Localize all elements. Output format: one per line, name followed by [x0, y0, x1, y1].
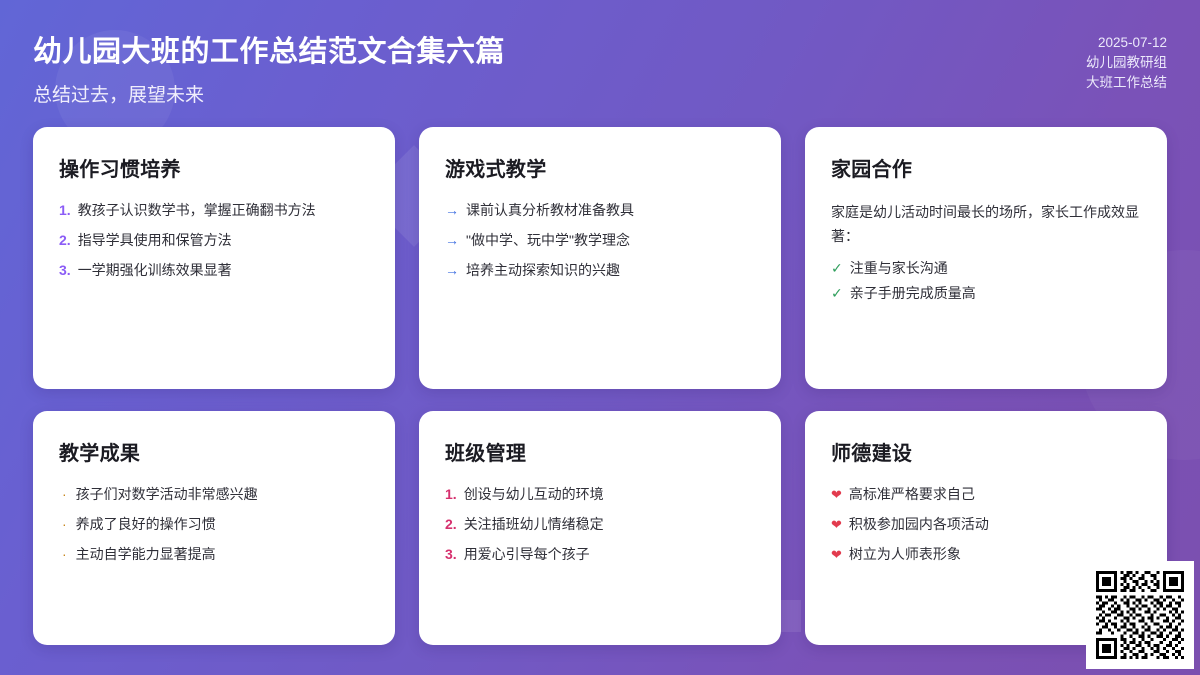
list-item: 1.教孩子认识数学书，掌握正确翻书方法	[59, 200, 369, 221]
slide-root: 幼儿园大班的工作总结范文合集六篇 总结过去，展望未来 2025-07-12 幼儿…	[0, 0, 1200, 675]
list-item: ✓注重与家长沟通	[831, 258, 1141, 279]
qr-code-icon	[1096, 571, 1184, 659]
card-list: ✓注重与家长沟通✓亲子手册完成质量高	[831, 258, 1141, 304]
card-title: 家园合作	[831, 153, 1141, 182]
card-title: 师德建设	[831, 437, 1141, 466]
card-list: ·孩子们对数学活动非常感兴趣·养成了良好的操作习惯·主动自学能力显著提高	[59, 484, 369, 565]
card-list: →课前认真分析教材准备教具→"做中学、玩中学"教学理念→培养主动探索知识的兴趣	[445, 200, 755, 281]
list-item: →课前认真分析教材准备教具	[445, 200, 755, 221]
list-item-text: 一学期强化训练效果显著	[78, 260, 369, 281]
list-item: ✓亲子手册完成质量高	[831, 283, 1141, 304]
list-item: 1.创设与幼儿互动的环境	[445, 484, 755, 505]
list-marker-icon: ❤	[831, 544, 842, 565]
header-date: 2025-07-12	[1086, 33, 1167, 53]
list-item-text: 孩子们对数学活动非常感兴趣	[76, 484, 369, 505]
list-item: →培养主动探索知识的兴趣	[445, 260, 755, 281]
list-item-text: 积极参加园内各项活动	[849, 514, 1141, 535]
card[interactable]: 教学成果·孩子们对数学活动非常感兴趣·养成了良好的操作习惯·主动自学能力显著提高	[33, 411, 395, 645]
list-item: 3.用爱心引导每个孩子	[445, 544, 755, 565]
list-marker-icon: ❤	[831, 484, 842, 505]
card-title: 操作习惯培养	[59, 153, 369, 182]
card-grid: 操作习惯培养1.教孩子认识数学书，掌握正确翻书方法2.指导学具使用和保管方法3.…	[33, 127, 1167, 645]
list-item-text: 亲子手册完成质量高	[850, 283, 1141, 304]
list-marker-icon: 1.	[445, 484, 457, 505]
qr-panel[interactable]	[1086, 561, 1194, 669]
list-item: ❤高标准严格要求自己	[831, 484, 1141, 505]
card[interactable]: 家园合作家庭是幼儿活动时间最长的场所，家长工作成效显著：✓注重与家长沟通✓亲子手…	[805, 127, 1167, 389]
card-title: 教学成果	[59, 437, 369, 466]
list-marker-icon: 2.	[445, 514, 457, 535]
card-list: 1.教孩子认识数学书，掌握正确翻书方法2.指导学具使用和保管方法3.一学期强化训…	[59, 200, 369, 281]
list-item: 2.指导学具使用和保管方法	[59, 230, 369, 251]
list-marker-icon: ·	[62, 484, 67, 505]
list-item-text: 创设与幼儿互动的环境	[464, 484, 755, 505]
card-list: ❤高标准严格要求自己❤积极参加园内各项活动❤树立为人师表形象	[831, 484, 1141, 565]
list-marker-icon: 2.	[59, 230, 71, 251]
list-item: ·主动自学能力显著提高	[59, 544, 369, 565]
list-item: ·孩子们对数学活动非常感兴趣	[59, 484, 369, 505]
list-marker-icon: ✓	[831, 258, 843, 279]
header-meta: 2025-07-12 幼儿园教研组 大班工作总结	[1086, 33, 1167, 93]
header-org: 幼儿园教研组	[1086, 53, 1167, 73]
card[interactable]: 班级管理1.创设与幼儿互动的环境2.关注插班幼儿情绪稳定3.用爱心引导每个孩子	[419, 411, 781, 645]
list-item-text: 注重与家长沟通	[850, 258, 1141, 279]
list-item-text: 主动自学能力显著提高	[76, 544, 369, 565]
page-subtitle: 总结过去，展望未来	[33, 80, 204, 107]
card-title: 班级管理	[445, 437, 755, 466]
card-title: 游戏式教学	[445, 153, 755, 182]
list-item-text: 指导学具使用和保管方法	[78, 230, 369, 251]
slide-header: 幼儿园大班的工作总结范文合集六篇 总结过去，展望未来 2025-07-12 幼儿…	[0, 0, 1200, 118]
list-item-text: 关注插班幼儿情绪稳定	[464, 514, 755, 535]
list-item-text: 教孩子认识数学书，掌握正确翻书方法	[78, 200, 369, 221]
card-list: 1.创设与幼儿互动的环境2.关注插班幼儿情绪稳定3.用爱心引导每个孩子	[445, 484, 755, 565]
card[interactable]: 操作习惯培养1.教孩子认识数学书，掌握正确翻书方法2.指导学具使用和保管方法3.…	[33, 127, 395, 389]
list-item-text: 课前认真分析教材准备教具	[466, 200, 755, 221]
list-item-text: 高标准严格要求自己	[849, 484, 1141, 505]
list-marker-icon: →	[445, 230, 459, 251]
list-item-text: 养成了良好的操作习惯	[76, 514, 369, 535]
list-item: ❤积极参加园内各项活动	[831, 514, 1141, 535]
list-marker-icon: →	[445, 200, 459, 221]
list-marker-icon: ✓	[831, 283, 843, 304]
list-marker-icon: 3.	[445, 544, 457, 565]
list-marker-icon: ❤	[831, 514, 842, 535]
list-item-text: 培养主动探索知识的兴趣	[466, 260, 755, 281]
header-category: 大班工作总结	[1086, 73, 1167, 93]
list-marker-icon: →	[445, 260, 459, 281]
list-marker-icon: 3.	[59, 260, 71, 281]
list-item-text: 用爱心引导每个孩子	[464, 544, 755, 565]
list-item: ·养成了良好的操作习惯	[59, 514, 369, 535]
list-item-text: "做中学、玩中学"教学理念	[466, 230, 755, 251]
card[interactable]: 游戏式教学→课前认真分析教材准备教具→"做中学、玩中学"教学理念→培养主动探索知…	[419, 127, 781, 389]
list-marker-icon: ·	[62, 544, 67, 565]
page-title: 幼儿园大班的工作总结范文合集六篇	[33, 28, 505, 70]
card-paragraph: 家庭是幼儿活动时间最长的场所，家长工作成效显著：	[831, 200, 1141, 248]
list-item: →"做中学、玩中学"教学理念	[445, 230, 755, 251]
list-item: 2.关注插班幼儿情绪稳定	[445, 514, 755, 535]
list-marker-icon: 1.	[59, 200, 71, 221]
list-item: 3.一学期强化训练效果显著	[59, 260, 369, 281]
list-marker-icon: ·	[62, 514, 67, 535]
